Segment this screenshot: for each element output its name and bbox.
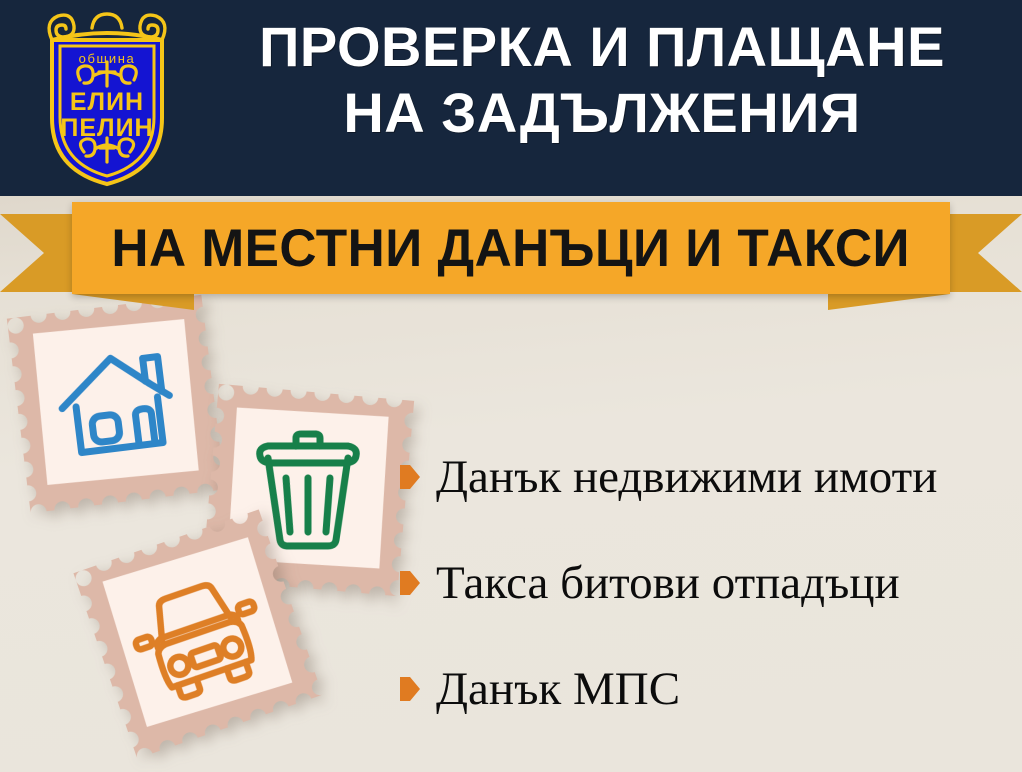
arrow-bullet-icon xyxy=(400,571,420,595)
tax-type-list: Данък недвижими имоти Такса битови отпад… xyxy=(400,424,1010,742)
tax-item-label: Такса битови отпадъци xyxy=(436,557,900,609)
tax-item-label: Данък недвижими имоти xyxy=(436,451,937,503)
crest-label-line1: ЕЛИН xyxy=(70,88,144,116)
list-item[interactable]: Данък недвижими имоти xyxy=(400,424,1010,530)
arrow-bullet-icon xyxy=(400,677,420,701)
coat-of-arms-icon: община ЕЛИН ПЕЛИН xyxy=(22,6,192,188)
tax-item-label: Данък МПС xyxy=(436,663,680,715)
page-title-line-2: НА ЗАДЪЛЖЕНИЯ xyxy=(192,80,1012,146)
ribbon-subtitle: НА МЕСТНИ ДАНЪЦИ И ТАКСИ xyxy=(112,220,911,277)
ribbon-body: НА МЕСТНИ ДАНЪЦИ И ТАКСИ xyxy=(72,202,950,294)
stamp-card-property-tax xyxy=(7,295,225,513)
subtitle-ribbon: НА МЕСТНИ ДАНЪЦИ И ТАКСИ xyxy=(0,196,1022,312)
page-title-line-1: ПРОВЕРКА И ПЛАЩАНЕ xyxy=(192,14,1012,80)
poster-root: община ЕЛИН ПЕЛИН xyxy=(0,0,1022,772)
header-title-group: ПРОВЕРКА И ПЛАЩАНЕ НА ЗАДЪЛЖЕНИЯ xyxy=(192,14,1012,146)
header-banner: община ЕЛИН ПЕЛИН xyxy=(0,0,1022,196)
arrow-bullet-icon xyxy=(400,465,420,489)
list-item[interactable]: Такса битови отпадъци xyxy=(400,530,1010,636)
list-item[interactable]: Данък МПС xyxy=(400,636,1010,742)
